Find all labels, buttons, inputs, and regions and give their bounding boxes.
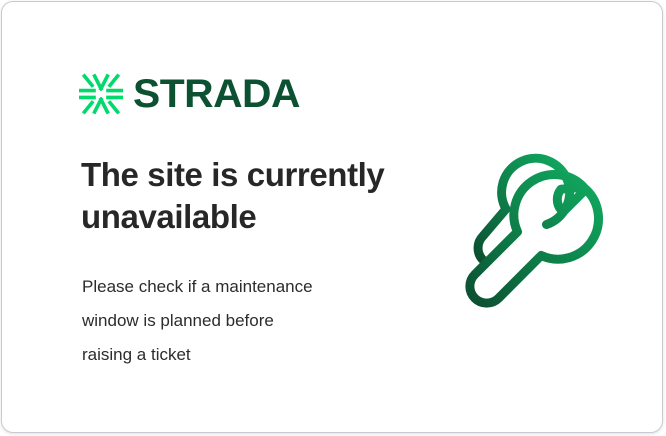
strada-asterisk-icon bbox=[79, 72, 123, 116]
body-line-3: raising a ticket bbox=[82, 338, 402, 372]
brand-logo: STRADA bbox=[79, 68, 297, 120]
wrench-icon bbox=[454, 152, 624, 317]
body-line-2: window is planned before bbox=[82, 304, 402, 338]
brand-wordmark: STRADA bbox=[133, 74, 300, 114]
page-title: The site is currently unavailable bbox=[81, 154, 411, 238]
status-card: STRADA The site is currently unavailable… bbox=[1, 1, 663, 433]
body-message: Please check if a maintenance window is … bbox=[82, 270, 402, 372]
body-line-1: Please check if a maintenance bbox=[82, 270, 402, 304]
